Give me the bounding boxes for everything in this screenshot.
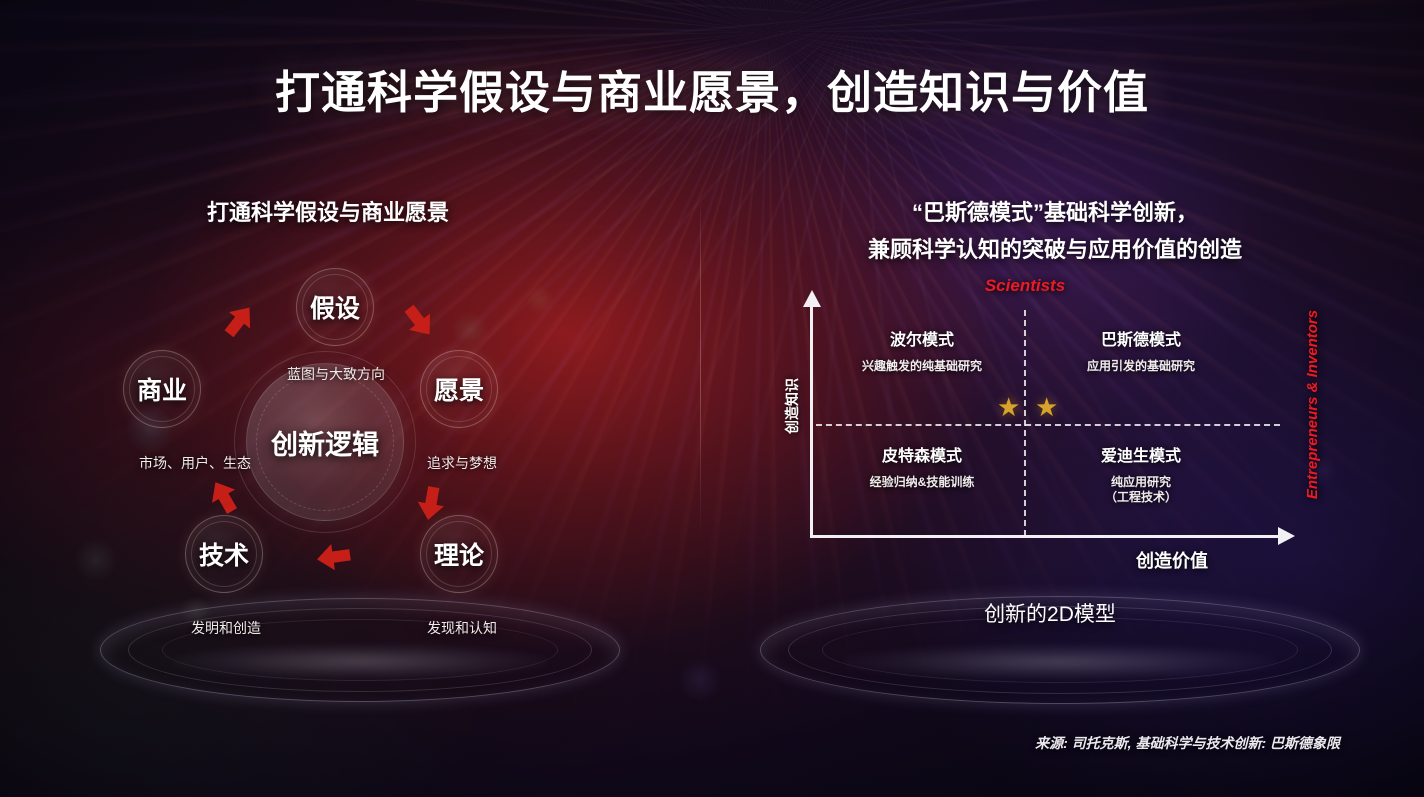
- y-axis-label: 创造知识: [782, 378, 802, 434]
- y-axis-line: [810, 306, 813, 538]
- pasteur-quadrant-chart: 波尔模式 兴趣触发的纯基础研究 巴斯德模式 应用引发的基础研究 皮特森模式 经验…: [780, 300, 1310, 560]
- source-attribution: 来源: 司托克斯, 基础科学与技术创新: 巴斯德象限: [1035, 733, 1340, 753]
- panel-divider: [700, 195, 701, 535]
- cycle-node-core[interactable]: 创新逻辑: [246, 363, 404, 521]
- cycle-node-vision[interactable]: 愿景: [420, 350, 498, 428]
- cycle-node-hypothesis-caption: 蓝图与大致方向: [231, 364, 441, 384]
- cycle-node-theory-label: 理论: [434, 536, 484, 572]
- cycle-node-business[interactable]: 商业: [123, 350, 201, 428]
- cycle-node-core-label: 创新逻辑: [271, 423, 379, 462]
- innovation-cycle-diagram: 创新逻辑 假设 蓝图与大致方向 愿景 追求与梦想 理论 发现和认知 技术 发明和…: [115, 240, 565, 640]
- cycle-node-theory[interactable]: 理论: [420, 515, 498, 593]
- cycle-node-hypothesis-label: 假设: [310, 289, 360, 325]
- quadrant-divider-horizontal: [816, 424, 1280, 426]
- cycle-node-vision-label: 愿景: [434, 371, 484, 407]
- quadrant-bohr-subtitle: 兴趣触发的纯基础研究: [824, 359, 1020, 374]
- annotation-scientists: Scientists: [960, 276, 1090, 296]
- cycle-node-technology-caption: 发明和创造: [151, 618, 301, 638]
- cycle-node-technology[interactable]: 技术: [185, 515, 263, 593]
- annotation-entrepreneurs-inventors: Entrepreneurs & Inventors: [1304, 310, 1321, 499]
- quadrant-peterson-title: 皮特森模式: [824, 442, 1020, 466]
- cycle-arrow-icon: [313, 536, 356, 579]
- quadrant-cell-pasteur[interactable]: 巴斯德模式 应用引发的基础研究: [1038, 326, 1244, 374]
- quadrant-cell-bohr[interactable]: 波尔模式 兴趣触发的纯基础研究: [824, 326, 1020, 374]
- slide-title: 打通科学假设与商业愿景，创造知识与价值: [0, 56, 1424, 121]
- quadrant-edison-title: 爱迪生模式: [1038, 442, 1244, 466]
- star-marker-icon: ★: [1035, 394, 1058, 420]
- cycle-arrow-icon: [212, 294, 265, 347]
- cycle-node-hypothesis[interactable]: 假设: [296, 268, 374, 346]
- right-panel-heading-line2: 兼顾科学认知的突破与应用价值的创造: [730, 231, 1380, 268]
- platform-glow: [844, 644, 1276, 681]
- quadrant-edison-subtitle: 纯应用研究（工程技术）: [1038, 475, 1244, 505]
- star-marker-icon: ★: [997, 394, 1020, 420]
- quadrant-divider-vertical: [1024, 310, 1026, 536]
- x-axis-arrow-icon: [1278, 527, 1295, 545]
- quadrant-peterson-subtitle: 经验归纳&技能训练: [824, 475, 1020, 490]
- chart-caption: 创新的2D模型: [880, 598, 1220, 628]
- cycle-arrow-icon: [392, 294, 445, 347]
- quadrant-bohr-title: 波尔模式: [824, 326, 1020, 350]
- right-panel-heading-line1: “巴斯德模式”基础科学创新，: [730, 194, 1380, 231]
- quadrant-pasteur-subtitle: 应用引发的基础研究: [1038, 359, 1244, 374]
- cycle-node-technology-label: 技术: [199, 536, 249, 572]
- presentation-slide: 打通科学假设与商业愿景，创造知识与价值 打通科学假设与商业愿景: [0, 0, 1424, 797]
- x-axis-label: 创造价值: [1136, 547, 1208, 573]
- x-axis-line: [810, 535, 1282, 538]
- quadrant-cell-edison[interactable]: 爱迪生模式 纯应用研究（工程技术）: [1038, 442, 1244, 505]
- cycle-node-business-caption: 市场、用户、生态: [90, 453, 300, 473]
- y-axis-arrow-icon: [803, 290, 821, 307]
- cycle-node-vision-caption: 追求与梦想: [387, 453, 537, 473]
- right-panel: “巴斯德模式”基础科学创新， 兼顾科学认知的突破与应用价值的创造 波尔模式 兴趣…: [730, 180, 1380, 700]
- platform-glow: [173, 644, 547, 679]
- quadrant-cell-peterson[interactable]: 皮特森模式 经验归纳&技能训练: [824, 442, 1020, 490]
- right-panel-heading: “巴斯德模式”基础科学创新， 兼顾科学认知的突破与应用价值的创造: [730, 194, 1380, 268]
- left-panel-heading: 打通科学假设与商业愿景: [118, 194, 538, 231]
- cycle-node-business-label: 商业: [137, 371, 187, 407]
- cycle-node-theory-caption: 发现和认知: [387, 618, 537, 638]
- quadrant-pasteur-title: 巴斯德模式: [1038, 326, 1244, 350]
- left-panel: 打通科学假设与商业愿景 创新逻辑 假: [70, 180, 690, 700]
